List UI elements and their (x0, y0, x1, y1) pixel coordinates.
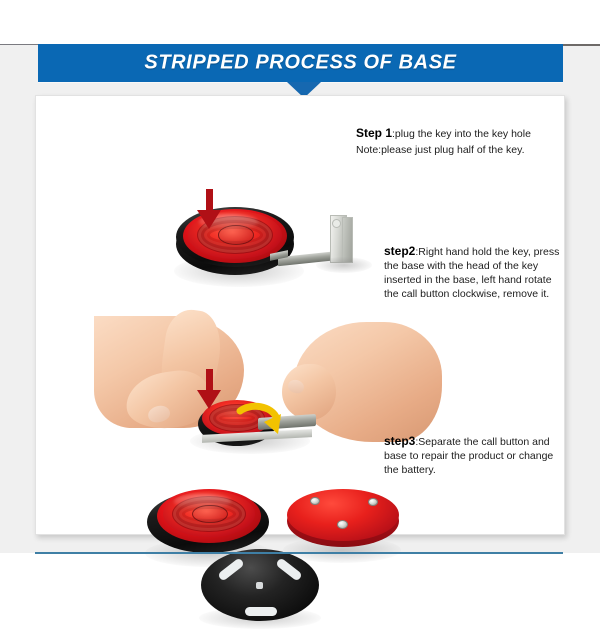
base-screw-3 (337, 520, 348, 529)
mounting-plate-slot-2 (275, 557, 303, 581)
right-hand-index-finger (282, 364, 336, 420)
content-card: Step 1:plug the key into the key hole No… (35, 95, 565, 535)
step2-photo (106, 308, 426, 476)
mounting-plate (201, 549, 319, 621)
step1-note: Note:please just plug half of the key. (356, 143, 561, 157)
arrow-down-icon-2 (197, 369, 221, 409)
mounting-plate-slot-3 (245, 607, 277, 616)
arrow-head (197, 390, 221, 409)
base-back-face (287, 489, 399, 541)
key-tool-shadow (316, 257, 372, 273)
page-root: STRIPPED PROCESS OF BASE (0, 0, 600, 600)
step1-photo (166, 199, 366, 289)
key-tool-hole (332, 219, 341, 228)
page-title: STRIPPED PROCESS OF BASE (38, 52, 563, 75)
title-banner: STRIPPED PROCESS OF BASE (38, 44, 563, 82)
base-screw-1 (310, 497, 320, 505)
step1-text-block: Step 1:plug the key into the key hole No… (356, 126, 561, 157)
mounting-plate-center-post (256, 582, 263, 589)
arrow-head (197, 210, 221, 229)
bottom-divider-line (35, 552, 563, 554)
step3-lead: step3 (384, 434, 415, 448)
mounting-plate-slot-1 (217, 557, 245, 581)
arrow-down-icon-1 (197, 189, 221, 229)
step3-photo (141, 481, 406, 621)
step1-body: :plug the key into the key hole (392, 128, 531, 140)
top-divider-line-right (563, 44, 600, 46)
base-screw-2 (368, 498, 378, 506)
step3-text-block: step3:Separate the call button and base … (384, 434, 562, 477)
call-button-red-face-3 (163, 491, 255, 537)
step1-lead: Step 1 (356, 126, 392, 140)
curved-arrow-clockwise-icon (234, 402, 286, 444)
step2-lead: step2 (384, 244, 415, 258)
step2-text-block: step2:Right hand hold the key, press the… (384, 244, 564, 301)
